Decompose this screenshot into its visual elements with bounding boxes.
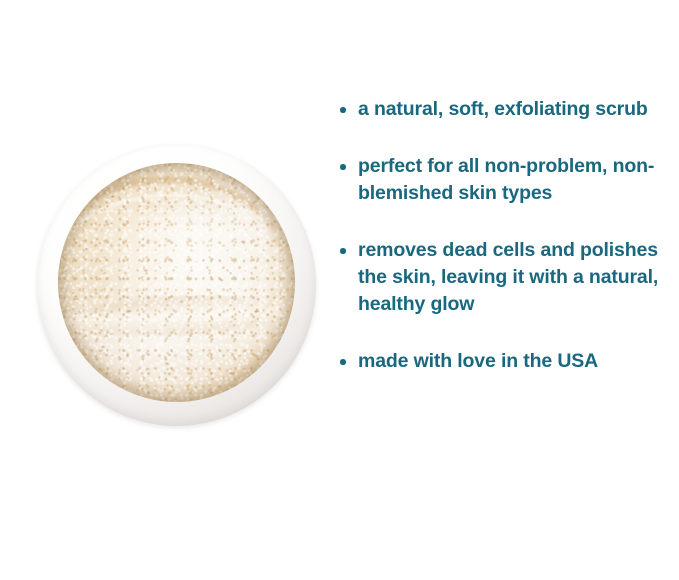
product-image-panel xyxy=(0,0,340,580)
benefit-text: a natural, soft, exfoliating scrub xyxy=(358,98,648,120)
benefit-text: removes dead cells and polishes the skin… xyxy=(358,239,658,315)
scrub-botanical-flecks xyxy=(58,163,295,402)
benefit-text: made with love in the USA xyxy=(358,350,598,372)
benefit-item: perfect for all non-problem, non-blemish… xyxy=(337,153,669,207)
scrub-jar xyxy=(37,144,316,426)
bullet-dot-icon xyxy=(340,359,346,365)
benefit-item: a natural, soft, exfoliating scrub xyxy=(337,96,669,123)
bullet-dot-icon xyxy=(340,164,346,170)
benefit-item: made with love in the USA xyxy=(337,348,669,375)
product-benefits-list: a natural, soft, exfoliating scrub perfe… xyxy=(337,96,669,375)
bullet-dot-icon xyxy=(340,107,346,113)
scrub-contents xyxy=(58,163,295,402)
benefit-item: removes dead cells and polishes the skin… xyxy=(337,237,669,318)
benefit-text: perfect for all non-problem, non-blemish… xyxy=(358,155,654,204)
bullet-dot-icon xyxy=(340,248,346,254)
